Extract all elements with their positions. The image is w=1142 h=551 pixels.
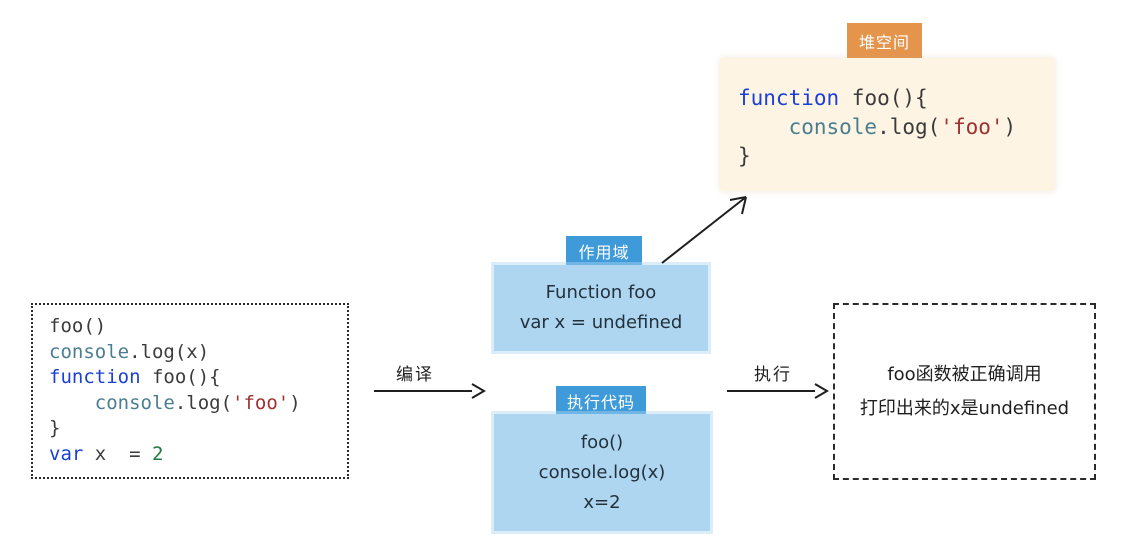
execute-arrow bbox=[727, 383, 827, 399]
execution-line: console.log(x) bbox=[539, 458, 666, 488]
compile-arrow-label: 编译 bbox=[396, 360, 434, 385]
code-token: } bbox=[49, 417, 60, 439]
compile-arrow bbox=[374, 383, 484, 399]
scope-line: Function foo bbox=[546, 278, 657, 308]
code-line: console.log(x) bbox=[49, 340, 301, 366]
code-token: function bbox=[49, 366, 141, 388]
execution-code-box: foo() console.log(x) x=2 bbox=[494, 414, 710, 531]
code-token: 'foo' bbox=[940, 115, 1003, 139]
code-line: } bbox=[738, 142, 1016, 171]
source-code-text: foo()console.log(x)function foo(){ conso… bbox=[49, 314, 301, 467]
code-token: .log(x) bbox=[129, 341, 209, 363]
code-line: function foo(){ bbox=[738, 84, 1016, 113]
execution-line: foo() bbox=[581, 428, 623, 458]
code-token: ) bbox=[289, 392, 300, 414]
code-line: console.log('foo') bbox=[49, 391, 301, 417]
code-token: var bbox=[49, 443, 83, 465]
result-box: foo函数被正确调用 打印出来的x是undefined bbox=[833, 303, 1096, 480]
scope-box: Function foo var x = undefined bbox=[494, 265, 708, 351]
code-token: x = bbox=[83, 443, 152, 465]
code-line: console.log('foo') bbox=[738, 113, 1016, 142]
scope-line: var x = undefined bbox=[520, 308, 683, 338]
code-token: 2 bbox=[152, 443, 163, 465]
source-code-box: foo()console.log(x)function foo(){ conso… bbox=[31, 303, 349, 479]
result-line: foo函数被正确调用 bbox=[887, 358, 1041, 392]
code-token: 'foo' bbox=[232, 392, 289, 414]
code-line: var x = 2 bbox=[49, 442, 301, 468]
code-line: } bbox=[49, 416, 301, 442]
code-token: } bbox=[738, 144, 751, 168]
scope-badge: 作用域 bbox=[566, 236, 642, 266]
code-token: ) bbox=[1004, 115, 1017, 139]
heap-code-text: function foo(){ console.log('foo')} bbox=[738, 84, 1016, 171]
code-token: foo(){ bbox=[141, 366, 221, 388]
code-token: foo() bbox=[49, 315, 106, 337]
execute-arrow-label: 执行 bbox=[754, 360, 792, 385]
code-token: console bbox=[49, 341, 129, 363]
result-line: 打印出来的x是undefined bbox=[860, 392, 1069, 426]
execution-line: x=2 bbox=[583, 488, 620, 518]
scope-to-heap-arrow bbox=[660, 193, 750, 265]
diagram-canvas: foo()console.log(x)function foo(){ conso… bbox=[0, 0, 1142, 551]
code-token: console bbox=[49, 392, 175, 414]
code-token: console bbox=[738, 115, 877, 139]
code-token: .log( bbox=[877, 115, 940, 139]
execution-badge: 执行代码 bbox=[556, 386, 646, 416]
code-line: foo() bbox=[49, 314, 301, 340]
code-token: .log( bbox=[175, 392, 232, 414]
code-token: function bbox=[738, 86, 839, 110]
heap-badge: 堆空间 bbox=[847, 23, 922, 59]
code-token: foo(){ bbox=[839, 86, 928, 110]
code-line: function foo(){ bbox=[49, 365, 301, 391]
heap-space-box: function foo(){ console.log('foo')} bbox=[720, 58, 1055, 191]
